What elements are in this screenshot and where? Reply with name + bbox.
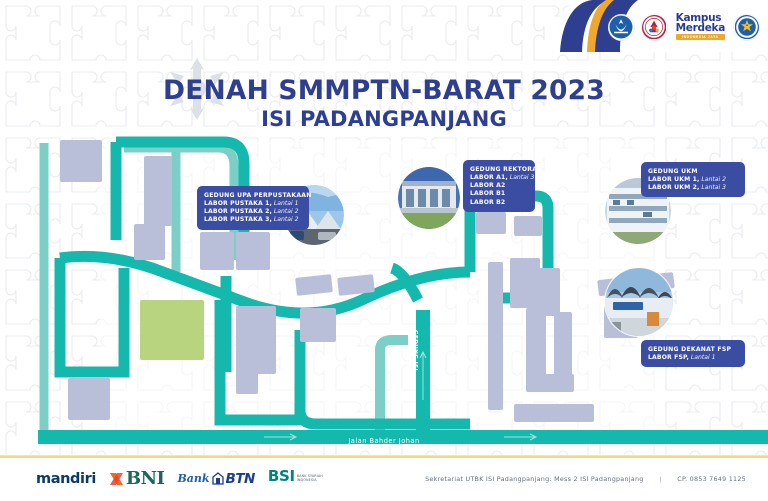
infobox-row-floor: Lantai 2	[274, 208, 299, 215]
poster-root: Kampus Merdeka INDONESIA JAYA	[0, 0, 768, 501]
page-title: DENAH SMMPTN-BARAT 2023 ISI PADANGPANJAN…	[0, 76, 768, 132]
bank-bsi-sublabel: BANK SYARIAH INDONESIA	[297, 474, 323, 482]
infobox-row: LABOR UKM 1, Lantai 2	[648, 176, 738, 184]
infobox-title: GEDUNG UKM	[648, 167, 738, 176]
title-sub-line: ISI PADANGPANJANG	[0, 106, 768, 132]
bank-bsi-label: BSI	[268, 467, 295, 485]
bank-bni-label: BNI	[126, 468, 165, 489]
footer-bank-logos: mandiri BNI Bank BTN BSI	[36, 456, 323, 501]
footer-phone-text: CP. 0853 7649 1125	[677, 475, 746, 483]
map-green-field	[140, 300, 204, 360]
infobox-row-floor: Lantai 1	[274, 200, 299, 207]
photo-dekanat-fsp	[605, 268, 673, 336]
title-main-line: DENAH SMMPTN-BARAT 2023	[0, 76, 768, 106]
footer-divider	[0, 456, 768, 458]
kampus-merdeka-logo: Kampus Merdeka INDONESIA JAYA	[674, 13, 727, 41]
infobox-gedung-upa-perpustakaan[interactable]: GEDUNG UPA PERPUSTAKAAN LABOR PUSTAKA 1,…	[197, 186, 309, 230]
infobox-row-floor: Lantai 1	[691, 354, 716, 361]
kemdikbud-emblem-logo	[733, 14, 760, 41]
infobox-row-label: LABOR A2	[470, 182, 505, 189]
infobox-row-floor: Lantai 3	[701, 184, 726, 191]
bank-btn-prefix: Bank	[177, 472, 209, 485]
footer-secretariat-text: Sekretariat UTBK ISI Padangpanjang: Mess…	[425, 475, 643, 483]
infobox-row: LABOR FSP, Lantai 1	[648, 354, 738, 362]
photo-rektorat	[398, 167, 460, 229]
bank-bni-logo: BNI	[109, 467, 165, 491]
infobox-gedung-dekanat-fsp[interactable]: GEDUNG DEKANAT FSP LABOR FSP, Lantai 1	[641, 340, 745, 367]
infobox-gedung-ukm[interactable]: GEDUNG UKM LABOR UKM 1, Lantai 2 LABOR U…	[641, 162, 745, 197]
infobox-title: GEDUNG REKTORAT	[470, 165, 528, 174]
infobox-row-label: LABOR UKM 2,	[648, 184, 699, 191]
kampus-merdeka-line2: Merdeka	[676, 24, 725, 34]
isi-padangpanjang-seal-logo	[641, 14, 668, 41]
bni-mark-icon	[109, 471, 124, 487]
infobox-gedung-rektorat[interactable]: GEDUNG REKTORAT LABOR A1, Lantai 3 LABOR…	[463, 160, 535, 212]
road-label-jalan-bahder-johan: Jalan Bahder Johan	[0, 437, 768, 445]
infobox-row: LABOR B2	[470, 199, 528, 207]
bank-bsi-sub2: INDONESIA	[297, 478, 317, 482]
infobox-row-floor: Lantai 3	[510, 174, 535, 181]
footer-separator: |	[644, 476, 678, 483]
infobox-row-label: LABOR B1	[470, 190, 505, 197]
infobox-row: LABOR PUSTAKA 3, Lantai 2	[204, 216, 302, 224]
infobox-row-label: LABOR FSP,	[648, 354, 689, 361]
infobox-row: LABOR A2	[470, 182, 528, 190]
bank-bsi-logo: BSI BANK SYARIAH INDONESIA	[268, 467, 323, 491]
infobox-row-label: LABOR B2	[470, 199, 505, 206]
infobox-row: LABOR PUSTAKA 1, Lantai 1	[204, 200, 302, 208]
bank-mandiri-logo: mandiri	[36, 467, 96, 491]
bank-btn-label: BTN	[226, 471, 255, 487]
infobox-title: GEDUNG DEKANAT FSP	[648, 345, 738, 354]
footer-bar: mandiri BNI Bank BTN BSI	[0, 455, 768, 501]
infobox-title: GEDUNG UPA PERPUSTAKAAN	[204, 191, 302, 200]
infobox-row-label: LABOR A1,	[470, 174, 508, 181]
infobox-row: LABOR UKM 2, Lantai 3	[648, 184, 738, 192]
road-label-gedung-isi-padangpanjang: GEDUNG ISI PADANGPANJANG	[405, 330, 418, 430]
infobox-row-label: LABOR PUSTAKA 3,	[204, 216, 272, 223]
infobox-row-floor: Lantai 2	[274, 216, 299, 223]
infobox-row-label: LABOR PUSTAKA 2,	[204, 208, 272, 215]
btn-house-icon	[212, 472, 224, 485]
infobox-row-floor: Lantai 2	[701, 176, 726, 183]
bank-btn-logo: Bank BTN	[177, 467, 254, 491]
bank-mandiri-label: mandiri	[36, 471, 96, 487]
map-buildings	[60, 140, 675, 422]
tut-wuri-handayani-logo	[608, 14, 635, 41]
infobox-row: LABOR B1	[470, 190, 528, 198]
kampus-merdeka-tagline: INDONESIA JAYA	[676, 34, 725, 40]
infobox-row-label: LABOR UKM 1,	[648, 176, 699, 183]
infobox-row: LABOR A1, Lantai 3	[470, 174, 528, 182]
infobox-row-label: LABOR PUSTAKA 1,	[204, 200, 272, 207]
header-logo-row: Kampus Merdeka INDONESIA JAYA	[608, 12, 760, 42]
